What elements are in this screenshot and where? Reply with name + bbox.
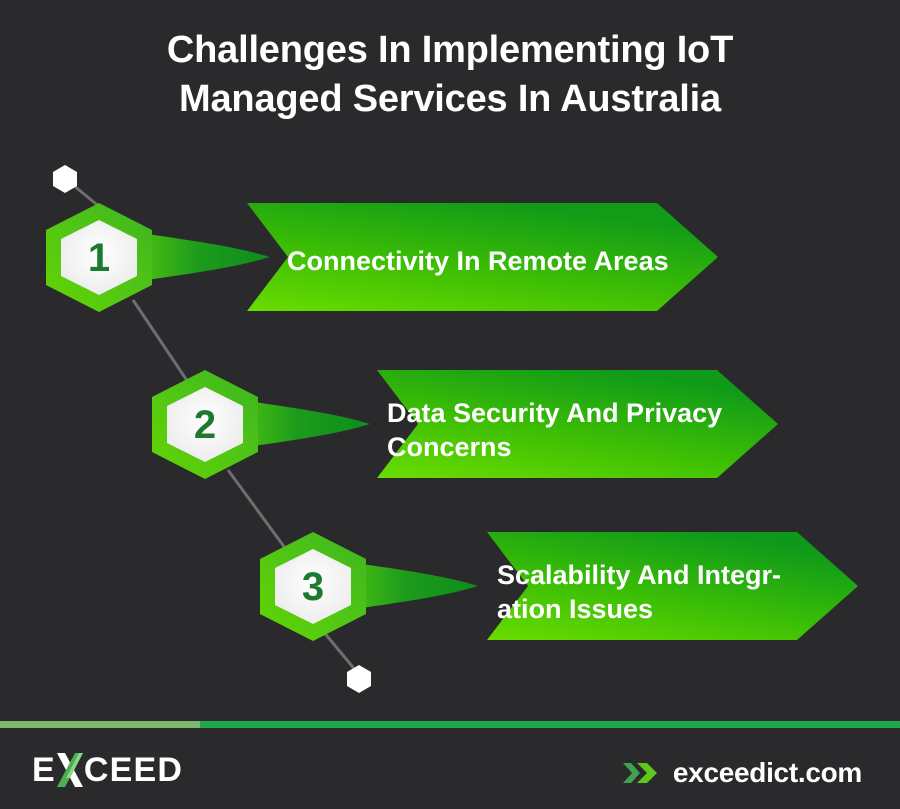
path-end-marker-icon — [347, 665, 371, 693]
step-1-label-line-1: Connectivity In Remote Areas — [287, 246, 669, 276]
step-2-number: 2 — [194, 403, 216, 447]
path-start-marker-icon — [53, 165, 77, 193]
step-item-2[interactable]: 2 Data Security And Privacy Concerns — [152, 370, 778, 479]
footer-divider — [0, 721, 900, 728]
brand-text-part-2: CEED — [84, 753, 183, 787]
brand-text-part-1: E — [32, 753, 56, 787]
step-3-number: 3 — [302, 565, 324, 609]
step-3-label-line-2: ation Issues — [497, 594, 653, 624]
infographic-root: Challenges In Implementing IoT Managed S… — [0, 0, 900, 809]
footer-divider-right — [200, 721, 900, 728]
step-1-number: 1 — [88, 236, 110, 280]
step-item-1[interactable]: 1 Connectivity In Remote Areas — [46, 203, 718, 312]
connector-segment-2-3 — [228, 470, 288, 552]
footer-divider-left — [0, 721, 200, 728]
step-1-knot — [140, 233, 270, 281]
footer: E CEED exceedict.com — [0, 721, 900, 809]
step-2-knot — [240, 400, 370, 448]
step-3-knot — [348, 562, 478, 610]
brand-wordmark: E CEED — [32, 753, 183, 787]
step-item-3[interactable]: 3 Scalability And Integr- ation Issues — [260, 532, 858, 641]
website-link[interactable]: exceedict.com — [623, 757, 862, 789]
step-2-label-line-2: Concerns — [387, 432, 512, 462]
steps-diagram: 1 Connectivity In Remote Areas 2 Data Se… — [0, 0, 900, 730]
connector-segment-end — [322, 630, 357, 672]
step-3-label-line-1: Scalability And Integr- — [497, 560, 781, 590]
double-chevron-right-icon — [623, 759, 659, 787]
brand-x-icon — [57, 753, 83, 787]
connector-segment-1-2 — [133, 300, 192, 388]
step-2-label-line-1: Data Security And Privacy — [387, 398, 722, 428]
website-url: exceedict.com — [673, 757, 862, 789]
brand-logo[interactable]: E CEED — [32, 753, 183, 787]
